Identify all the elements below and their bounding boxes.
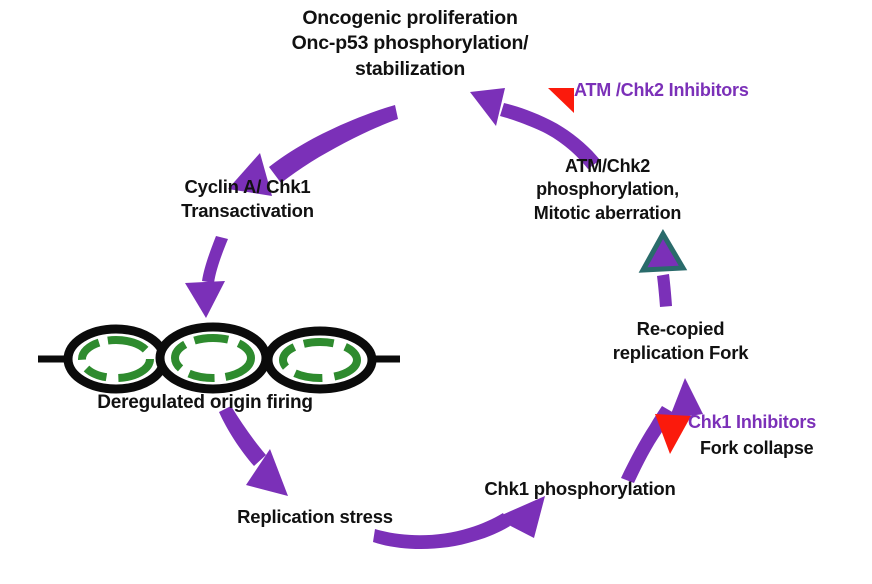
label-atm-chk2-phosphorylation: ATM/Chk2 phosphorylation, Mitotic aberra…	[500, 155, 715, 225]
label-replication-stress: Replication stress	[205, 505, 425, 529]
label-chk1-inhibitors: Chk1 Inhibitors	[688, 411, 863, 434]
origin-bubble-2	[160, 327, 266, 389]
chromatin-origins-figure	[38, 327, 400, 389]
arrow-origin-firing-to-replication-stress	[219, 406, 288, 496]
arrow-cyclin-to-origin-firing	[185, 236, 228, 318]
label-atm-chk2-inhibitors: ATM /Chk2 Inhibitors	[574, 79, 814, 102]
atm-chk2-inhibitor-marker-icon	[548, 88, 574, 113]
origin-bubble-3	[268, 331, 372, 389]
arrow-recopied-fork-to-atm-chk2	[643, 234, 683, 307]
label-chk1-phosphorylation: Chk1 phosphorylation	[455, 477, 705, 501]
origin-bubble-1	[68, 329, 164, 389]
label-deregulated-origin-firing: Deregulated origin firing	[55, 391, 355, 416]
label-cyclin-a-chk1-transactivation: Cyclin A/ Chk1 Transactivation	[140, 175, 355, 223]
label-re-copied-replication-fork: Re-copied replication Fork	[588, 317, 773, 365]
pathway-diagram: Oncogenic proliferation Onc-p53 phosphor…	[0, 0, 872, 584]
label-fork-collapse: Fork collapse	[700, 437, 872, 460]
label-oncogenic-proliferation: Oncogenic proliferation Onc-p53 phosphor…	[250, 6, 570, 82]
